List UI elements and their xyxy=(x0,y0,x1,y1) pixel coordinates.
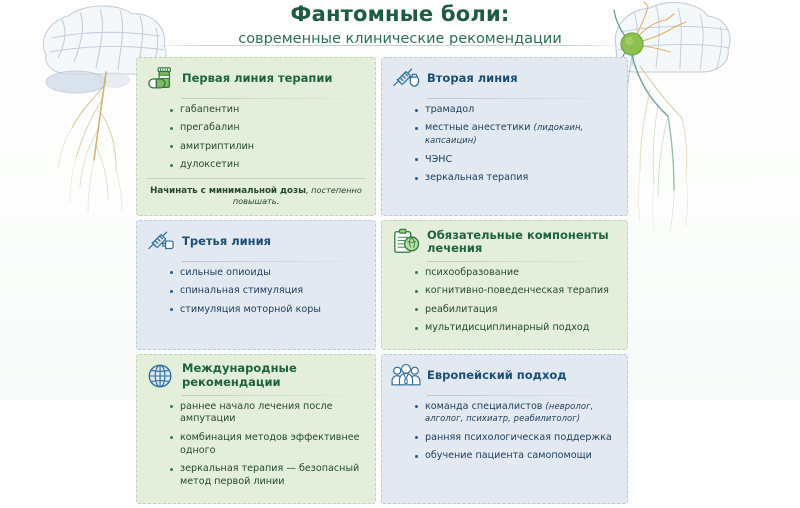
list-item: ранняя психологическая поддержка xyxy=(415,432,618,445)
list-item: зеркальная терапия xyxy=(415,172,618,185)
list-item: трамадол xyxy=(415,104,618,117)
cards-grid: Первая линия терапии габапентин прегабал… xyxy=(136,57,628,508)
card-title-divider xyxy=(182,261,366,262)
card-item-list: сильные опиоиды спинальная стимуляция ст… xyxy=(146,267,366,317)
card-header: Третья линия xyxy=(146,228,366,260)
list-item: спинальная стимуляция xyxy=(170,285,366,298)
globe-icon xyxy=(146,362,176,390)
card-header: Европейский подход xyxy=(391,362,618,394)
list-item: местные анестетики (лидокаин, капсаицин) xyxy=(415,122,618,148)
footer-note-bold: Начинать с минимальной дозы xyxy=(150,186,306,196)
list-item: дулоксетин xyxy=(170,159,366,172)
card-title: Европейский подход xyxy=(427,369,567,382)
list-item: ЧЭНС xyxy=(415,154,618,167)
card-item-list: психообразование когнитивно-поведенческа… xyxy=(391,267,618,335)
list-item: раннее начало лечения после ампутации xyxy=(170,401,366,427)
clipboard-brain-icon xyxy=(391,228,421,256)
cards-row-2: Третья линия сильные опиоиды спинальная … xyxy=(136,220,628,350)
list-item: реабилитация xyxy=(415,304,618,317)
page-title: Фантомные боли: xyxy=(0,2,800,26)
list-item: сильные опиоиды xyxy=(170,267,366,280)
card-first-line-therapy[interactable]: Первая линия терапии габапентин прегабал… xyxy=(136,57,376,216)
list-item: обучение пациента самопомощи xyxy=(415,450,618,463)
card-header: Первая линия терапии xyxy=(146,65,366,97)
cards-row-1: Первая линия терапии габапентин прегабал… xyxy=(136,57,628,216)
card-header: Международные рекомендации xyxy=(146,362,366,394)
card-title: Обязательные компоненты лечения xyxy=(427,229,618,255)
card-header: Обязательные компоненты лечения xyxy=(391,228,618,260)
card-header: Вторая линия xyxy=(391,65,618,97)
card-mandatory-components[interactable]: Обязательные компоненты лечения психообр… xyxy=(381,220,628,350)
syringe-icon xyxy=(146,228,176,256)
card-title-divider xyxy=(182,395,366,396)
header-divider xyxy=(150,45,628,46)
card-third-line[interactable]: Третья линия сильные опиоиды спинальная … xyxy=(136,220,376,350)
card-european-approach[interactable]: Европейский подход команда специалистов … xyxy=(381,354,628,504)
card-title: Вторая линия xyxy=(427,72,518,85)
list-item: комбинация методов эффективнее одного xyxy=(170,432,366,458)
card-title-divider xyxy=(427,261,618,262)
card-title: Международные рекомендации xyxy=(182,362,366,388)
pill-bottle-icon xyxy=(146,65,176,93)
list-item: команда специалистов (невролог, алголог,… xyxy=(415,401,618,427)
card-item-list: команда специалистов (невролог, алголог,… xyxy=(391,401,618,464)
card-title-divider xyxy=(182,98,366,99)
card-title-divider xyxy=(427,395,618,396)
card-item-list: трамадол местные анестетики (лидокаин, к… xyxy=(391,104,618,185)
list-item: амитриптилин xyxy=(170,141,366,154)
card-title: Третья линия xyxy=(182,235,271,248)
page-header: Фантомные боли: современные клинические … xyxy=(0,2,800,49)
syringe-icon xyxy=(391,65,421,93)
list-item: стимуляция моторной коры xyxy=(170,304,366,317)
card-item-list: габапентин прегабалин амитриптилин дулок… xyxy=(146,104,366,172)
infographic-page: Фантомные боли: современные клинические … xyxy=(0,0,800,400)
card-footer-note: Начинать с минимальной дозы, постепенно … xyxy=(146,178,366,207)
list-item: зеркальная терапия — безопасный метод пе… xyxy=(170,463,366,489)
list-item: психообразование xyxy=(415,267,618,280)
cards-row-3: Международные рекомендации раннее начало… xyxy=(136,354,628,504)
card-title: Первая линия терапии xyxy=(182,72,332,85)
list-item: когнитивно-поведенческая терапия xyxy=(415,285,618,298)
list-item: габапентин xyxy=(170,104,366,117)
card-item-list: раннее начало лечения после ампутации ко… xyxy=(146,401,366,490)
card-title-divider xyxy=(427,98,618,99)
medical-team-icon xyxy=(391,362,421,390)
card-second-line[interactable]: Вторая линия трамадол местные анестетики… xyxy=(381,57,628,216)
card-international-recommendations[interactable]: Международные рекомендации раннее начало… xyxy=(136,354,376,504)
list-item: мультидисциплинарный подход xyxy=(415,322,618,335)
list-item: прегабалин xyxy=(170,122,366,135)
